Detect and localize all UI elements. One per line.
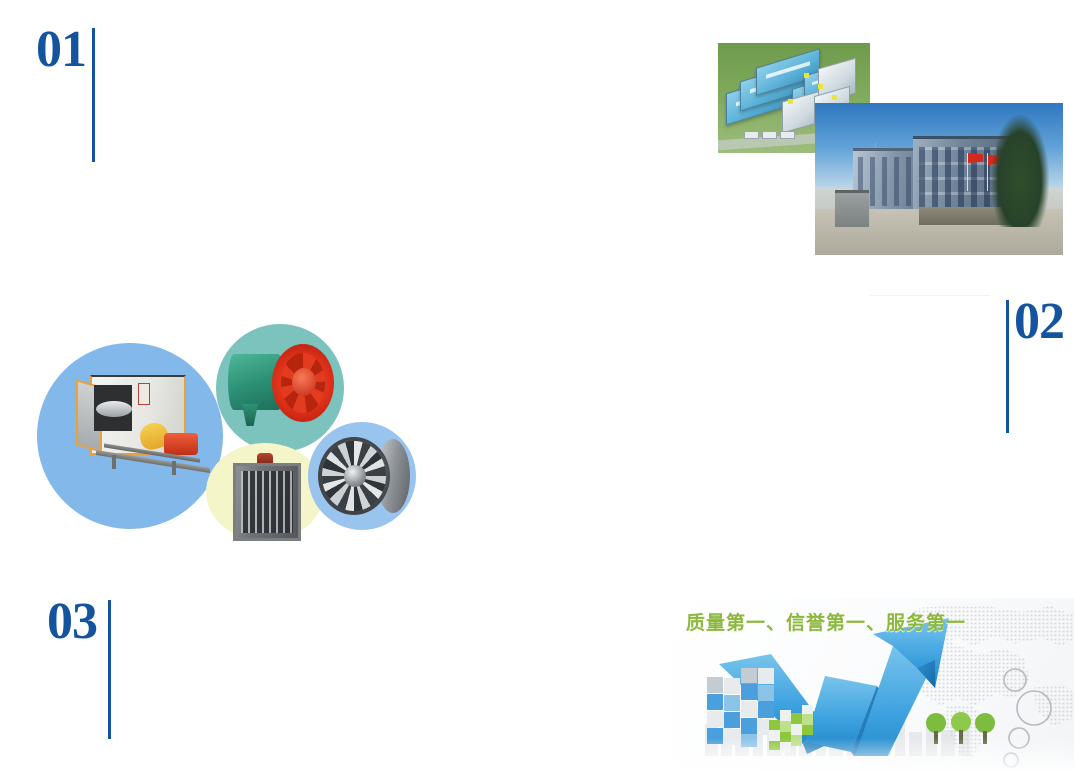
- section-rule-01: [92, 28, 95, 162]
- product-image-cabinet-centrifugal-fan: [68, 363, 220, 499]
- section-rule-03: [108, 600, 111, 739]
- banner-floor-gradient: [673, 738, 1074, 772]
- growth-slogan-banner: 质量第一、信誉第一、服务第一: [673, 598, 1074, 772]
- section-hairline-02: [870, 295, 990, 296]
- product-image-air-damper-filter-box: [233, 453, 295, 535]
- section-number-01: 01: [36, 24, 86, 76]
- office-building-photo: [815, 103, 1063, 255]
- product-image-axial-flow-fan: [228, 340, 336, 438]
- section-rule-02: [1006, 300, 1009, 433]
- banner-slogan-text: 质量第一、信誉第一、服务第一: [686, 608, 966, 635]
- page-root: 01: [0, 0, 1074, 772]
- section-number-02: 02: [1014, 296, 1064, 348]
- section-number-03: 03: [47, 596, 97, 648]
- product-image-metal-impeller-fan: [318, 437, 410, 515]
